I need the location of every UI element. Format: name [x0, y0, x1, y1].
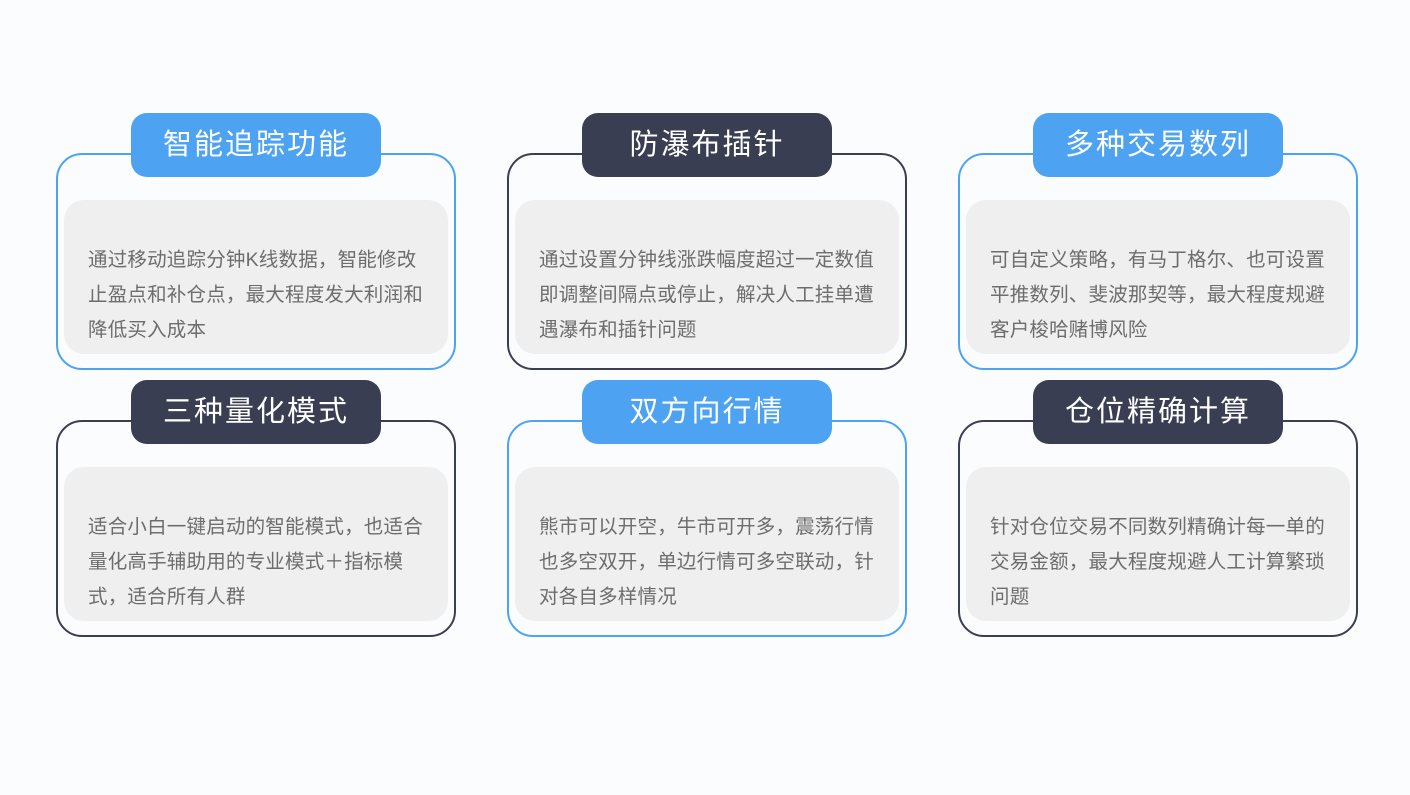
- feature-card-description: 通过设置分钟线涨跌幅度超过一定数值即调整间隔点或停止，解决人工挂单遭遇瀑布和插针…: [539, 243, 875, 348]
- feature-card-title: 智能追踪功能: [131, 113, 381, 177]
- feature-card[interactable]: 智能追踪功能 通过移动追踪分钟K线数据，智能修改止盈点和补仓点，最大程度发大利润…: [56, 153, 456, 370]
- feature-card[interactable]: 多种交易数列 可自定义策略，有马丁格尔、也可设置平推数列、斐波那契等，最大程度规…: [958, 153, 1358, 370]
- feature-card-description: 适合小白一键启动的智能模式，也适合量化高手辅助用的专业模式＋指标模式，适合所有人…: [88, 510, 424, 615]
- feature-card-title: 双方向行情: [582, 380, 832, 444]
- feature-card[interactable]: 三种量化模式 适合小白一键启动的智能模式，也适合量化高手辅助用的专业模式＋指标模…: [56, 420, 456, 637]
- feature-card-description: 可自定义策略，有马丁格尔、也可设置平推数列、斐波那契等，最大程度规避客户梭哈赌博…: [990, 243, 1326, 348]
- feature-card-body: 针对仓位交易不同数列精确计每一单的交易金额，最大程度规避人工计算繁琐问题: [966, 467, 1350, 621]
- feature-card-body: 通过移动追踪分钟K线数据，智能修改止盈点和补仓点，最大程度发大利润和降低买入成本: [64, 200, 448, 354]
- feature-card-title: 三种量化模式: [131, 380, 381, 444]
- feature-card-description: 针对仓位交易不同数列精确计每一单的交易金额，最大程度规避人工计算繁琐问题: [990, 510, 1326, 615]
- feature-card-title: 多种交易数列: [1033, 113, 1283, 177]
- feature-card-description: 通过移动追踪分钟K线数据，智能修改止盈点和补仓点，最大程度发大利润和降低买入成本: [88, 243, 424, 348]
- feature-card[interactable]: 仓位精确计算 针对仓位交易不同数列精确计每一单的交易金额，最大程度规避人工计算繁…: [958, 420, 1358, 637]
- feature-card-body: 通过设置分钟线涨跌幅度超过一定数值即调整间隔点或停止，解决人工挂单遭遇瀑布和插针…: [515, 200, 899, 354]
- feature-card-description: 熊市可以开空，牛市可开多，震荡行情也多空双开，单边行情可多空联动，针对各自多样情…: [539, 510, 875, 615]
- feature-card-title: 仓位精确计算: [1033, 380, 1283, 444]
- feature-card-title: 防瀑布插针: [582, 113, 832, 177]
- feature-board: 智能追踪功能 通过移动追踪分钟K线数据，智能修改止盈点和补仓点，最大程度发大利润…: [0, 0, 1410, 795]
- feature-card-grid: 智能追踪功能 通过移动追踪分钟K线数据，智能修改止盈点和补仓点，最大程度发大利润…: [56, 153, 1358, 637]
- feature-card-body: 熊市可以开空，牛市可开多，震荡行情也多空双开，单边行情可多空联动，针对各自多样情…: [515, 467, 899, 621]
- feature-card[interactable]: 双方向行情 熊市可以开空，牛市可开多，震荡行情也多空双开，单边行情可多空联动，针…: [507, 420, 907, 637]
- feature-card-body: 可自定义策略，有马丁格尔、也可设置平推数列、斐波那契等，最大程度规避客户梭哈赌博…: [966, 200, 1350, 354]
- feature-card[interactable]: 防瀑布插针 通过设置分钟线涨跌幅度超过一定数值即调整间隔点或停止，解决人工挂单遭…: [507, 153, 907, 370]
- feature-card-body: 适合小白一键启动的智能模式，也适合量化高手辅助用的专业模式＋指标模式，适合所有人…: [64, 467, 448, 621]
